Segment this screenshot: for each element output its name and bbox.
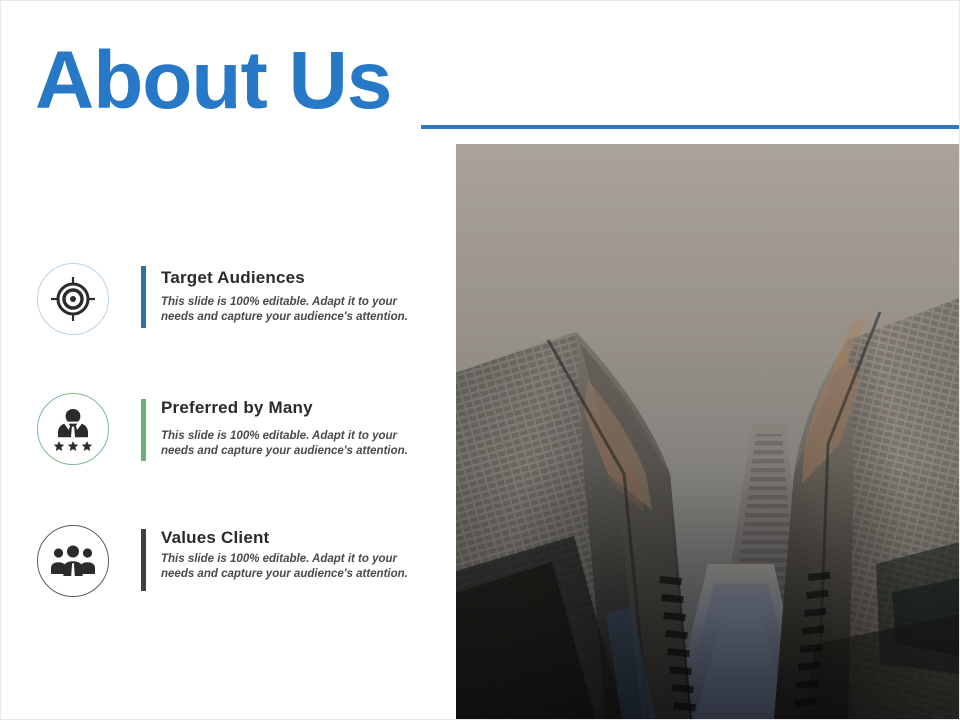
feature-accent-bar xyxy=(141,266,146,328)
feature-body: This slide is 100% editable. Adapt it to… xyxy=(161,552,423,581)
photo-scene xyxy=(456,144,960,720)
title-underline-rule xyxy=(421,125,960,129)
feature-heading: Preferred by Many xyxy=(161,397,441,419)
feature-heading: Target Audiences xyxy=(161,267,441,289)
feature-heading: Values Client xyxy=(161,527,441,549)
feature-accent-bar xyxy=(141,399,146,461)
businessman-stars-icon xyxy=(37,393,109,465)
target-crosshair-icon xyxy=(37,263,109,335)
page-title: About Us xyxy=(35,35,391,127)
feature-block-values-client: Values Client This slide is 100% editabl… xyxy=(37,525,437,605)
skyscrapers-looking-up-photo xyxy=(456,144,960,720)
feature-body: This slide is 100% editable. Adapt it to… xyxy=(161,295,423,324)
people-group-icon xyxy=(37,525,109,597)
slide-canvas: About Us Target Audiences This slide is … xyxy=(0,0,960,720)
feature-accent-bar xyxy=(141,529,146,591)
feature-text-group: Preferred by Many This slide is 100% edi… xyxy=(161,397,441,458)
feature-block-target-audiences: Target Audiences This slide is 100% edit… xyxy=(37,259,437,339)
feature-body: This slide is 100% editable. Adapt it to… xyxy=(161,429,423,458)
feature-text-group: Values Client This slide is 100% editabl… xyxy=(161,527,441,581)
feature-block-preferred-by-many: Preferred by Many This slide is 100% edi… xyxy=(37,393,437,473)
feature-text-group: Target Audiences This slide is 100% edit… xyxy=(161,267,441,324)
